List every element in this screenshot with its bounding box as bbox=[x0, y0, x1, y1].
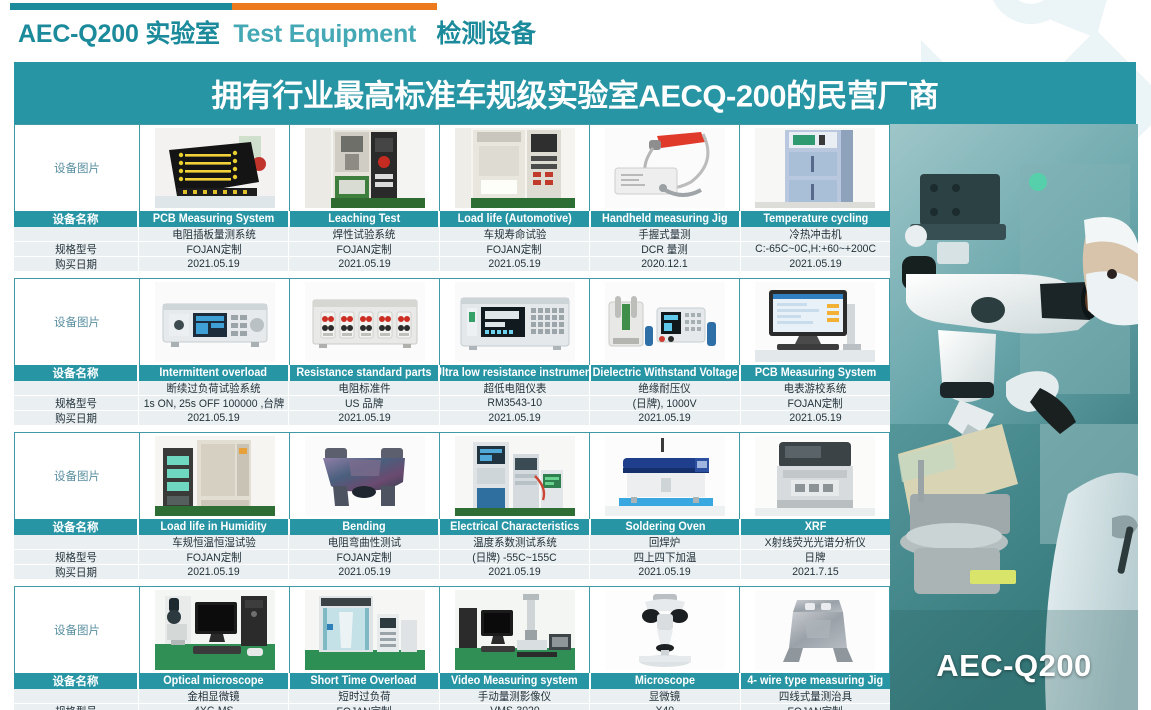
equipment-name-text: Handheld measuring Jig bbox=[602, 213, 728, 225]
row-label-subname bbox=[14, 227, 139, 241]
video-measuring-system-photo bbox=[440, 587, 590, 673]
row-label-text: 购买日期 bbox=[55, 565, 97, 579]
row-label-text: 规格型号 bbox=[55, 704, 97, 710]
equipment-block: 设备图片设备名称Intermittent overloadResistance … bbox=[14, 278, 890, 426]
equipment-model-cell: C:-65C~0C,H:+60~+200C bbox=[741, 242, 890, 256]
equipment-image-row: 设备图片 bbox=[14, 124, 890, 211]
electrical-characteristics-rack-photo bbox=[440, 433, 590, 519]
equipment-model-cell: DCR 量测 bbox=[590, 242, 740, 256]
equipment-date-row: 购买日期2021.05.192021.05.192021.05.192021.0… bbox=[14, 565, 890, 580]
equipment-name-cell: Bending bbox=[290, 519, 441, 535]
row-label-subname bbox=[14, 381, 139, 395]
equipment-subname-text: 车规恒温恒湿试验 bbox=[172, 535, 256, 549]
equipment-model-cell: X40 bbox=[590, 704, 740, 710]
equipment-subname-cell: 断续过负荷试验系统 bbox=[139, 381, 289, 395]
equipment-name-cell: Resistance standard parts bbox=[290, 365, 441, 381]
equipment-block: 设备图片设备名称Load life in HumidityBendingElec… bbox=[14, 432, 890, 580]
equipment-name-text: Video Measuring system bbox=[451, 675, 578, 687]
equipment-date-text: 2021.05.19 bbox=[789, 258, 841, 270]
row-label-model: 规格型号 bbox=[14, 550, 139, 564]
equipment-model-cell: FOJAN定制 bbox=[440, 242, 590, 256]
equipment-date-cell: 2021.05.19 bbox=[590, 411, 740, 425]
equipment-model-text: US 品牌 bbox=[345, 396, 383, 410]
equipment-subname-cell: 手动量测影像仪 bbox=[440, 689, 590, 703]
equipment-name-cell: Ultra low resistance instrument bbox=[440, 365, 591, 381]
row-label-model: 规格型号 bbox=[14, 704, 139, 710]
equipment-model-cell: (日牌), 1000V bbox=[590, 396, 740, 410]
main-banner: 拥有行业最高标准车规级实验室AECQ-200的民营厂商 bbox=[14, 62, 1136, 124]
equipment-name-text: Electrical Characteristics bbox=[450, 521, 579, 533]
equipment-model-row: 规格型号FOJAN定制FOJAN定制FOJAN定制DCR 量测C:-65C~0C… bbox=[14, 242, 890, 257]
equipment-date-cell: 2021.05.19 bbox=[139, 411, 289, 425]
thermal-shock-chamber-photo bbox=[740, 125, 889, 211]
equipment-subname-text: 显微镜 bbox=[649, 689, 680, 703]
equipment-subname-text: 冷热冲击机 bbox=[789, 227, 841, 241]
equipment-subname-row: 断续过负荷试验系统电阻标准件超低电阻仪表绝缘耐压仪电表游校系统 bbox=[14, 381, 890, 396]
equipment-model-text: X40 bbox=[656, 705, 675, 710]
row-label-text: 购买日期 bbox=[55, 411, 97, 425]
row-label-image: 设备图片 bbox=[15, 125, 140, 211]
equipment-name-text: Intermittent overload bbox=[160, 367, 268, 379]
equipment-subname-text: 四线式量测治具 bbox=[779, 689, 852, 703]
equipment-block: 设备图片设备名称PCB Measuring SystemLeaching Tes… bbox=[14, 124, 890, 272]
row-label-image: 设备图片 bbox=[15, 587, 140, 673]
equipment-subname-cell: 手握式量测 bbox=[590, 227, 740, 241]
row-label-text: 规格型号 bbox=[55, 242, 97, 256]
equipment-date-cell: 2021.05.19 bbox=[289, 411, 439, 425]
equipment-name-cell: Dielectric Withstand Voltage bbox=[591, 365, 742, 381]
row-label-image: 设备图片 bbox=[15, 433, 140, 519]
equipment-subname-row: 金相显微镜短时过负荷手动量测影像仪显微镜四线式量测治具 bbox=[14, 689, 890, 704]
equipment-name-text: Dielectric Withstand Voltage bbox=[593, 367, 738, 379]
bending-fixture-photo bbox=[290, 433, 440, 519]
equipment-date-text: 2021.05.19 bbox=[338, 566, 390, 578]
row-label-model: 规格型号 bbox=[14, 242, 139, 256]
equipment-name-text: PCB Measuring System bbox=[755, 367, 876, 379]
equipment-subname-cell: 显微镜 bbox=[590, 689, 740, 703]
equipment-model-cell: RM3543-10 bbox=[440, 396, 590, 410]
equipment-model-cell: 1s ON, 25s OFF 100000 ,台牌 bbox=[139, 396, 289, 410]
equipment-model-text: FOJAN定制 bbox=[788, 396, 843, 410]
equipment-date-cell: 2021.7.15 bbox=[741, 565, 890, 579]
equipment-subname-text: 金相显微镜 bbox=[188, 689, 240, 703]
equipment-subname-cell: 电阻弯曲性测试 bbox=[289, 535, 439, 549]
equipment-name-header-row: 设备名称Load life in HumidityBendingElectric… bbox=[14, 519, 890, 535]
equipment-date-text: 2021.05.19 bbox=[488, 258, 540, 270]
equipment-date-text: 2021.05.19 bbox=[488, 412, 540, 424]
equipment-model-row: 规格型号4XC-MSFOJAN定制VMS-3020X40FOJAN定制 bbox=[14, 704, 890, 710]
equipment-name-text: Soldering Oven bbox=[625, 521, 705, 533]
four-wire-jig-photo bbox=[740, 587, 889, 673]
equipment-model-text: FOJAN定制 bbox=[186, 550, 241, 564]
equipment-name-cell: Intermittent overload bbox=[139, 365, 290, 381]
equipment-name-text: Microscope bbox=[635, 675, 695, 687]
row-label-name: 设备名称 bbox=[14, 211, 139, 227]
equipment-date-cell: 2021.05.19 bbox=[741, 257, 890, 271]
equipment-subname-cell: 短时过负荷 bbox=[289, 689, 439, 703]
equipment-model-cell: VMS-3020 bbox=[440, 704, 590, 710]
equipment-subname-text: 断续过负荷试验系统 bbox=[167, 381, 261, 395]
equipment-name-cell: 4- wire type measuring Jig bbox=[741, 673, 890, 689]
equipment-model-text: FOJAN定制 bbox=[337, 550, 392, 564]
equipment-date-text: 2021.05.19 bbox=[188, 566, 240, 578]
equipment-model-text: 四上四下加温 bbox=[634, 550, 697, 564]
equipment-model-text: DCR 量测 bbox=[642, 242, 688, 256]
equipment-model-text: 日牌 bbox=[805, 550, 826, 564]
equipment-name-text: 4- wire type measuring Jig bbox=[748, 675, 884, 687]
equipment-subname-text: 电阻弯曲性测试 bbox=[328, 535, 401, 549]
equipment-name-cell: Handheld measuring Jig bbox=[591, 211, 742, 227]
equipment-name-text: XRF bbox=[805, 521, 827, 533]
equipment-model-cell: FOJAN定制 bbox=[741, 704, 890, 710]
equipment-name-cell: PCB Measuring System bbox=[741, 365, 890, 381]
equipment-date-cell: 2021.05.19 bbox=[741, 411, 890, 425]
row-label-date: 购买日期 bbox=[14, 257, 139, 271]
equipment-subname-text: 手动量测影像仪 bbox=[478, 689, 551, 703]
microscope-operator-photo bbox=[890, 124, 1138, 710]
equipment-date-cell: 2021.05.19 bbox=[440, 411, 590, 425]
equipment-subname-text: 回焊炉 bbox=[649, 535, 680, 549]
equipment-name-text: Ultra low resistance instrument bbox=[440, 367, 591, 379]
equipment-subname-text: X射线荧光光谱分析仪 bbox=[765, 535, 866, 549]
stereo-microscope-photo bbox=[590, 587, 740, 673]
load-life-chamber-photo bbox=[440, 125, 590, 211]
equipment-model-cell: 日牌 bbox=[741, 550, 890, 564]
equipment-name-text: Optical microscope bbox=[163, 675, 263, 687]
equipment-model-cell: FOJAN定制 bbox=[289, 550, 439, 564]
equipment-date-cell: 2021.05.19 bbox=[139, 565, 289, 579]
equipment-model-cell: FOJAN定制 bbox=[139, 550, 289, 564]
equipment-model-text: FOJAN定制 bbox=[337, 242, 392, 256]
equipment-subname-text: 焊性试验系统 bbox=[333, 227, 396, 241]
equipment-subname-cell: 回焊炉 bbox=[590, 535, 740, 549]
equipment-date-text: 2021.05.19 bbox=[338, 258, 390, 270]
equipment-model-text: FOJAN定制 bbox=[186, 242, 241, 256]
equipment-subname-cell: 金相显微镜 bbox=[139, 689, 289, 703]
equipment-date-row: 购买日期2021.05.192021.05.192021.05.192021.0… bbox=[14, 411, 890, 426]
equipment-model-cell: FOJAN定制 bbox=[289, 704, 439, 710]
ultra-low-resistance-meter-photo bbox=[440, 279, 590, 365]
equipment-model-text: (日牌) -55C~155C bbox=[472, 550, 557, 564]
accent-rules bbox=[10, 3, 437, 10]
row-label-model: 规格型号 bbox=[14, 396, 139, 410]
equipment-name-cell: Load life (Automotive) bbox=[440, 211, 591, 227]
equipment-model-cell: FOJAN定制 bbox=[289, 242, 439, 256]
equipment-date-text: 2021.05.19 bbox=[488, 566, 540, 578]
row-label-name: 设备名称 bbox=[14, 673, 139, 689]
equipment-name-cell: Electrical Characteristics bbox=[440, 519, 591, 535]
equipment-model-text: RM3543-10 bbox=[487, 397, 542, 409]
equipment-subname-cell: X射线荧光光谱分析仪 bbox=[741, 535, 890, 549]
equipment-model-text: FOJAN定制 bbox=[487, 242, 542, 256]
equipment-subname-row: 车规恒温恒湿试验电阻弯曲性测试温度系数测试系统回焊炉X射线荧光光谱分析仪 bbox=[14, 535, 890, 550]
equipment-date-text: 2021.05.19 bbox=[188, 258, 240, 270]
equipment-name-text: PCB Measuring System bbox=[153, 213, 274, 225]
handheld-jig-photo bbox=[590, 125, 740, 211]
equipment-date-text: 2021.05.19 bbox=[188, 412, 240, 424]
equipment-subname-cell: 绝缘耐压仪 bbox=[590, 381, 740, 395]
equipment-block: 设备图片设备名称Optical microscopeShort Time Ove… bbox=[14, 586, 890, 710]
equipment-image-row: 设备图片 bbox=[14, 586, 890, 673]
equipment-date-cell: 2021.05.19 bbox=[289, 257, 439, 271]
pcb-measuring-workstation-photo bbox=[740, 279, 889, 365]
equipment-name-text: Leaching Test bbox=[328, 213, 400, 225]
equipment-subname-cell: 电表游校系统 bbox=[741, 381, 890, 395]
row-label-text: 购买日期 bbox=[55, 257, 97, 271]
equipment-model-row: 规格型号FOJAN定制FOJAN定制(日牌) -55C~155C四上四下加温日牌 bbox=[14, 550, 890, 565]
equipment-subname-text: 电阻插板量测系统 bbox=[172, 227, 256, 241]
humidity-chamber-photo bbox=[140, 433, 290, 519]
equipment-name-text: Load life (Automotive) bbox=[457, 213, 571, 225]
row-label-image: 设备图片 bbox=[15, 279, 140, 365]
equipment-date-row: 购买日期2021.05.192021.05.192021.05.192020.1… bbox=[14, 257, 890, 272]
equipment-name-text: Resistance standard parts bbox=[296, 367, 431, 379]
equipment-subname-text: 短时过负荷 bbox=[338, 689, 390, 703]
lab-hero-photo: AEC-Q200 bbox=[890, 124, 1138, 710]
row-label-name: 设备名称 bbox=[14, 365, 139, 381]
equipment-date-text: 2020.12.1 bbox=[642, 258, 688, 270]
optical-microscope-station-photo bbox=[140, 587, 290, 673]
equipment-date-text: 2021.05.19 bbox=[789, 412, 841, 424]
equipment-subname-cell: 电阻标准件 bbox=[289, 381, 439, 395]
equipment-model-text: (日牌), 1000V bbox=[633, 396, 697, 410]
equipment-date-text: 2021.05.19 bbox=[338, 412, 390, 424]
equipment-date-cell: 2021.05.19 bbox=[289, 565, 439, 579]
equipment-subname-cell: 车规恒温恒湿试验 bbox=[139, 535, 289, 549]
equipment-name-cell: XRF bbox=[741, 519, 890, 535]
equipment-date-cell: 2020.12.1 bbox=[590, 257, 740, 271]
equipment-name-text: Bending bbox=[342, 521, 385, 533]
resistance-standard-box-photo bbox=[290, 279, 440, 365]
equipment-name-cell: Temperature cycling bbox=[741, 211, 890, 227]
equipment-name-cell: Microscope bbox=[591, 673, 742, 689]
equipment-name-cell: PCB Measuring System bbox=[139, 211, 290, 227]
equipment-subname-cell: 焊性试验系统 bbox=[289, 227, 439, 241]
equipment-name-header-row: 设备名称PCB Measuring SystemLeaching TestLoa… bbox=[14, 211, 890, 227]
equipment-subname-text: 超低电阻仪表 bbox=[483, 381, 546, 395]
equipment-subname-cell: 温度系数测试系统 bbox=[440, 535, 590, 549]
page-title: AEC-Q200 实验室 Test Equipment 检测设备 bbox=[18, 14, 536, 50]
short-time-overload-cabinet-photo bbox=[290, 587, 440, 673]
slide-root: AEC-Q200 实验室 Test Equipment 检测设备 拥有行业最高标… bbox=[0, 0, 1151, 710]
equipment-subname-cell: 冷热冲击机 bbox=[741, 227, 890, 241]
equipment-name-cell: Video Measuring system bbox=[440, 673, 591, 689]
equipment-name-cell: Optical microscope bbox=[139, 673, 290, 689]
equipment-name-text: Short Time Overload bbox=[311, 675, 417, 687]
page-title-part-3: 检测设备 bbox=[436, 20, 535, 48]
equipment-name-cell: Leaching Test bbox=[290, 211, 441, 227]
equipment-image-row: 设备图片 bbox=[14, 432, 890, 519]
equipment-subname-text: 温度系数测试系统 bbox=[473, 535, 557, 549]
xrf-analyzer-photo bbox=[740, 433, 889, 519]
equipment-subname-text: 电表游校系统 bbox=[784, 381, 847, 395]
hero-label: AEC-Q200 bbox=[890, 648, 1138, 684]
equipment-model-cell: (日牌) -55C~155C bbox=[440, 550, 590, 564]
equipment-date-cell: 2021.05.19 bbox=[440, 257, 590, 271]
equipment-model-text: C:-65C~0C,H:+60~+200C bbox=[755, 243, 876, 255]
equipment-subname-text: 电阻标准件 bbox=[338, 381, 390, 395]
row-label-name: 设备名称 bbox=[14, 519, 139, 535]
equipment-subname-cell: 四线式量测治具 bbox=[741, 689, 890, 703]
accent-rule-orange bbox=[232, 3, 437, 10]
equipment-subname-text: 手握式量测 bbox=[639, 227, 691, 241]
equipment-subname-cell: 电阻插板量测系统 bbox=[139, 227, 289, 241]
pcb-fixture-photo bbox=[140, 125, 290, 211]
equipment-model-cell: FOJAN定制 bbox=[139, 242, 289, 256]
row-label-subname bbox=[14, 535, 139, 549]
equipment-name-header-row: 设备名称Optical microscopeShort Time Overloa… bbox=[14, 673, 890, 689]
equipment-date-text: 2021.7.15 bbox=[792, 566, 838, 578]
intermittent-overload-instrument-photo bbox=[140, 279, 290, 365]
equipment-model-cell: 4XC-MS bbox=[139, 704, 289, 710]
equipment-name-text: Load life in Humidity bbox=[160, 521, 266, 533]
equipment-date-cell: 2021.05.19 bbox=[139, 257, 289, 271]
equipment-model-text: FOJAN定制 bbox=[337, 704, 392, 710]
page-title-part-2: Test Equipment bbox=[233, 20, 416, 48]
equipment-model-text: 4XC-MS bbox=[194, 705, 233, 710]
equipment-date-cell: 2021.05.19 bbox=[440, 565, 590, 579]
equipment-model-cell: 四上四下加温 bbox=[590, 550, 740, 564]
equipment-date-text: 2021.05.19 bbox=[639, 566, 691, 578]
equipment-subname-row: 电阻插板量测系统焊性试验系统车规寿命试验手握式量测冷热冲击机 bbox=[14, 227, 890, 242]
row-label-text: 规格型号 bbox=[55, 396, 97, 410]
soldering-oven-photo bbox=[590, 433, 740, 519]
equipment-name-cell: Load life in Humidity bbox=[139, 519, 290, 535]
row-label-text: 规格型号 bbox=[55, 550, 97, 564]
dielectric-withstand-tester-photo bbox=[590, 279, 740, 365]
equipment-name-text: Temperature cycling bbox=[763, 213, 868, 225]
row-label-subname bbox=[14, 689, 139, 703]
equipment-subname-cell: 车规寿命试验 bbox=[440, 227, 590, 241]
equipment-model-cell: FOJAN定制 bbox=[741, 396, 890, 410]
accent-rule-teal bbox=[10, 3, 232, 10]
equipment-image-row: 设备图片 bbox=[14, 278, 890, 365]
equipment-subname-text: 绝缘耐压仪 bbox=[639, 381, 691, 395]
equipment-name-cell: Soldering Oven bbox=[591, 519, 742, 535]
equipment-date-cell: 2021.05.19 bbox=[590, 565, 740, 579]
equipment-name-header-row: 设备名称Intermittent overloadResistance stan… bbox=[14, 365, 890, 381]
row-label-date: 购买日期 bbox=[14, 411, 139, 425]
equipment-model-text: FOJAN定制 bbox=[788, 704, 843, 710]
equipment-name-cell: Short Time Overload bbox=[290, 673, 441, 689]
page-title-part-1: AEC-Q200 实验室 bbox=[18, 20, 220, 48]
equipment-date-text: 2021.05.19 bbox=[639, 412, 691, 424]
leaching-tester-photo bbox=[290, 125, 440, 211]
equipment-model-row: 规格型号1s ON, 25s OFF 100000 ,台牌US 品牌RM3543… bbox=[14, 396, 890, 411]
equipment-table: 设备图片设备名称PCB Measuring SystemLeaching Tes… bbox=[14, 124, 890, 710]
equipment-model-text: VMS-3020 bbox=[490, 705, 539, 710]
equipment-subname-cell: 超低电阻仪表 bbox=[440, 381, 590, 395]
equipment-model-cell: US 品牌 bbox=[289, 396, 439, 410]
equipment-model-text: 1s ON, 25s OFF 100000 ,台牌 bbox=[143, 396, 284, 410]
banner-title: 拥有行业最高标准车规级实验室AECQ-200的民营厂商 bbox=[14, 71, 1136, 116]
equipment-subname-text: 车规寿命试验 bbox=[483, 227, 546, 241]
row-label-date: 购买日期 bbox=[14, 565, 139, 579]
